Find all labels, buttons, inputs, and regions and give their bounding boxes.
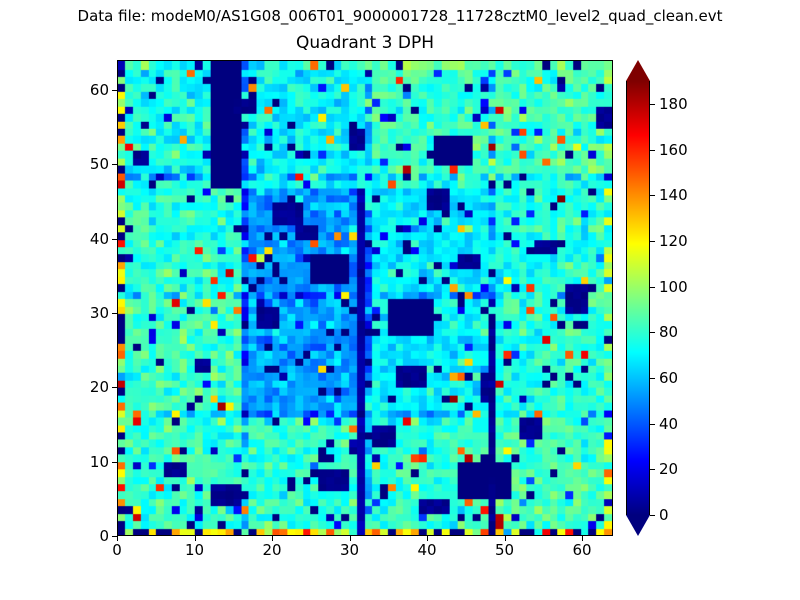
colorbar-under-arrow xyxy=(626,515,650,536)
colorbar-tick-label: 140 xyxy=(659,186,688,204)
heatmap-axes[interactable] xyxy=(117,60,613,536)
y-tick-label: 60 xyxy=(90,81,109,99)
x-tick-label: 0 xyxy=(112,541,122,559)
colorbar-tick-labels: 020406080100120140160180 xyxy=(650,60,710,536)
colorbar-tick-label: 20 xyxy=(659,460,678,478)
colorbar-over-arrow xyxy=(626,60,650,81)
colorbar-tick-label: 160 xyxy=(659,141,688,159)
data-file-label: Data file: modeM0/AS1G08_006T01_90000017… xyxy=(0,7,800,25)
y-tick-label: 30 xyxy=(90,304,109,322)
detector-pixel-heatmap[interactable] xyxy=(118,61,612,535)
x-axis-tick-labels: 0102030405060 xyxy=(117,537,613,563)
x-tick-label: 10 xyxy=(185,541,204,559)
colorbar-tick-mark xyxy=(650,150,655,151)
colorbar-tick-label: 60 xyxy=(659,369,678,387)
colorbar-tick-label: 180 xyxy=(659,95,688,113)
figure-canvas: Data file: modeM0/AS1G08_006T01_90000017… xyxy=(0,0,800,600)
x-tick-label: 60 xyxy=(572,541,591,559)
colorbar-tick-label: 120 xyxy=(659,232,688,250)
y-tick-label: 0 xyxy=(99,527,109,545)
colorbar-tick-mark xyxy=(650,378,655,379)
y-axis-tick-labels: 0102030405060 xyxy=(0,60,117,536)
y-tick-label: 20 xyxy=(90,378,109,396)
colorbar-tick-mark xyxy=(650,424,655,425)
colorbar-tick-label: 40 xyxy=(659,415,678,433)
x-tick-label: 30 xyxy=(340,541,359,559)
colorbar-tick-mark xyxy=(650,241,655,242)
colorbar-tick-label: 100 xyxy=(659,278,688,296)
x-tick-label: 20 xyxy=(262,541,281,559)
colorbar-tick-mark xyxy=(650,287,655,288)
y-tick-label: 50 xyxy=(90,155,109,173)
colorbar-tick-mark xyxy=(650,332,655,333)
colorbar-tick-mark xyxy=(650,195,655,196)
y-tick-label: 40 xyxy=(90,230,109,248)
x-tick-label: 40 xyxy=(417,541,436,559)
plot-title: Quadrant 3 DPH xyxy=(117,33,613,53)
colorbar-tick-label: 80 xyxy=(659,323,678,341)
x-tick-label: 50 xyxy=(495,541,514,559)
colorbar-gradient xyxy=(626,81,650,515)
colorbar[interactable] xyxy=(626,60,650,536)
colorbar-tick-mark xyxy=(650,515,655,516)
colorbar-tick-mark xyxy=(650,469,655,470)
colorbar-tick-mark xyxy=(650,104,655,105)
colorbar-tick-label: 0 xyxy=(659,506,669,524)
y-tick-label: 10 xyxy=(90,453,109,471)
